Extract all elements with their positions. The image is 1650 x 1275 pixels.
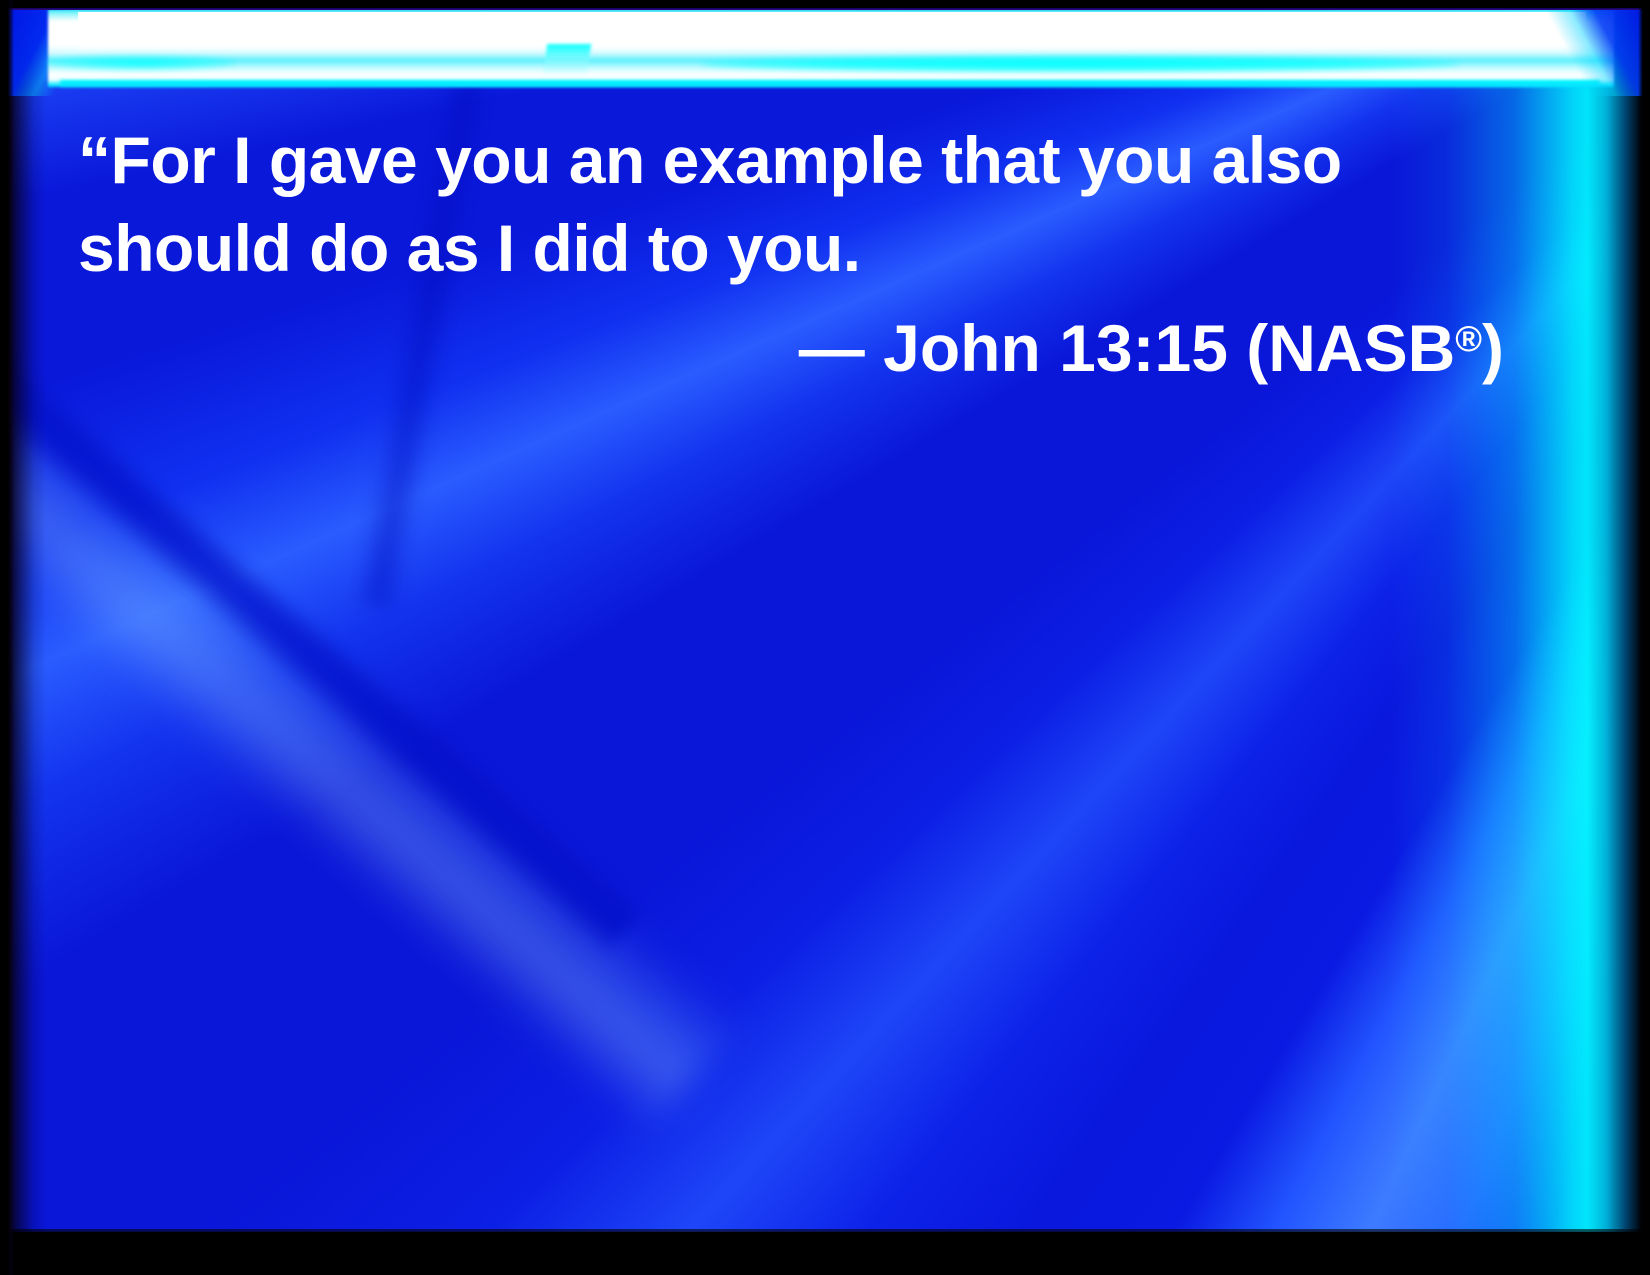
verse-line-1: “For I gave you an example that you also xyxy=(78,116,1518,204)
verse-text-block: “For I gave you an example that you also… xyxy=(78,116,1518,390)
frame-matte-top xyxy=(0,0,1650,8)
header-band-cyan-underline xyxy=(60,80,1600,88)
verse-attribution: — John 13:15 (NASB®) xyxy=(78,306,1518,390)
header-band-cyan-highlight xyxy=(700,56,1460,72)
frame-matte-bottom xyxy=(0,1229,1650,1275)
header-band-right-wedge xyxy=(1520,8,1650,96)
attribution-dash: — xyxy=(799,311,865,385)
attribution-reference: John 13:15 (NASB xyxy=(883,311,1455,385)
attribution-close-paren: ) xyxy=(1482,311,1504,385)
frame-matte-left xyxy=(0,0,14,1275)
registered-trademark-icon: ® xyxy=(1455,318,1482,359)
header-band xyxy=(0,0,1650,96)
frame-matte-right xyxy=(1638,0,1650,1275)
scripture-slide: “For I gave you an example that you also… xyxy=(0,0,1650,1275)
header-band-cyan-highlight-left xyxy=(46,56,236,70)
header-band-notch xyxy=(543,44,591,76)
background-right-edge-fade xyxy=(1560,0,1650,1232)
verse-line-2: should do as I did to you. xyxy=(78,204,1518,292)
